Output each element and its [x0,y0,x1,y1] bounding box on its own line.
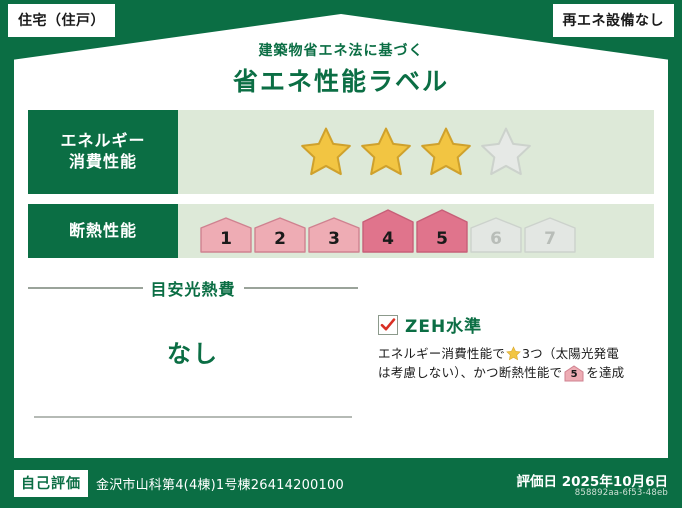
evaluation-type-badge: 自己評価 [14,470,88,497]
energy-label-line1: エネルギー [60,131,145,152]
building-type-tag: 住宅（住戸） [8,4,115,37]
title-subtitle: 建築物省エネ法に基づく [0,40,682,60]
insulation-level-badge: 1 [200,217,252,253]
zeh-block: ZEH水準 エネルギー消費性能で3つ（太陽光発電 は考慮しない）、かつ断熱性能で… [358,274,654,444]
insulation-level-number: 5 [416,229,468,249]
label-title-block: 建築物省エネ法に基づく 省エネ性能ラベル [0,40,682,98]
lower-section: 目安光熱費 なし ZEH水準 エネルギー消費性能で3つ（太陽光発電 [28,274,654,444]
insulation-level-badge: 6 [470,217,522,253]
star-icon-filled [418,125,474,179]
label-body-card: エネルギー 消費性能 断熱性能 1234567 目安光熱費 [14,96,668,458]
rule-right [244,287,359,289]
insulation-level-badge: 4 [362,209,414,253]
rule-left [28,287,143,289]
utility-cost-divider [34,416,352,418]
evaluation-date: 評価日 2025年10月6日 [517,470,668,490]
energy-star-rating [178,110,654,194]
insulation-level-number: 3 [308,229,360,249]
energy-performance-label: エネルギー 消費性能 [28,110,178,194]
zeh-desc-part2: は考慮しない）、かつ断熱性能で [378,365,562,380]
insulation-level-number: 2 [254,229,306,249]
energy-performance-label: 住宅（住戸） 再エネ設備なし 建築物省エネ法に基づく 省エネ性能ラベル エネルギ… [0,0,682,508]
utility-cost-block: 目安光熱費 なし [28,274,358,444]
zeh-checkbox[interactable] [378,315,398,335]
zeh-desc-starcount: 3つ（太陽光発電 [522,346,619,361]
insulation-level-badge: 5 [416,209,468,253]
zeh-desc-part1: エネルギー消費性能で [378,346,505,361]
utility-cost-header: 目安光熱費 [28,276,358,300]
energy-label-line2: 消費性能 [69,152,137,173]
insulation-performance-label: 断熱性能 [28,204,178,258]
insulation-level-group: 1234567 [200,209,576,253]
insulation-level-number: 1 [200,229,252,249]
renewable-energy-tag: 再エネ設備なし [553,4,675,37]
star-icon-inline [506,346,521,361]
zeh-description: エネルギー消費性能で3つ（太陽光発電 は考慮しない）、かつ断熱性能で5を達成 [378,344,654,383]
property-address: 金沢市山科第4(4棟)1号棟26414200100 [96,474,344,493]
insulation-badge-inline: 5 [564,365,584,382]
star-icon-filled [298,125,354,179]
page-title: 省エネ性能ラベル [0,62,682,98]
insulation-level-number: 6 [470,229,522,249]
label-hash-id: 858892aa-6f53-48eb [575,488,668,498]
insulation-level-number: 4 [362,229,414,249]
check-icon [380,317,396,333]
insulation-badge-inline-num: 5 [564,367,584,383]
zeh-title: ZEH水準 [405,312,482,337]
insulation-level-number: 7 [524,229,576,249]
insulation-level-badge: 7 [524,217,576,253]
insulation-level-scale: 1234567 [178,204,654,258]
insulation-level-badge: 3 [308,217,360,253]
zeh-header: ZEH水準 [378,312,654,337]
label-footer: 自己評価 金沢市山科第4(4棟)1号棟26414200100 評価日 2025年… [0,458,682,508]
utility-cost-value: なし [28,334,358,369]
energy-performance-row: エネルギー 消費性能 [28,110,654,194]
insulation-level-badge: 2 [254,217,306,253]
zeh-desc-part3: を達成 [586,365,624,380]
insulation-performance-row: 断熱性能 1234567 [28,204,654,258]
star-icon-empty [478,125,534,179]
utility-cost-title: 目安光熱費 [151,276,236,300]
insulation-label-text: 断熱性能 [69,221,137,242]
star-rating-group [298,125,534,179]
star-icon-filled [358,125,414,179]
